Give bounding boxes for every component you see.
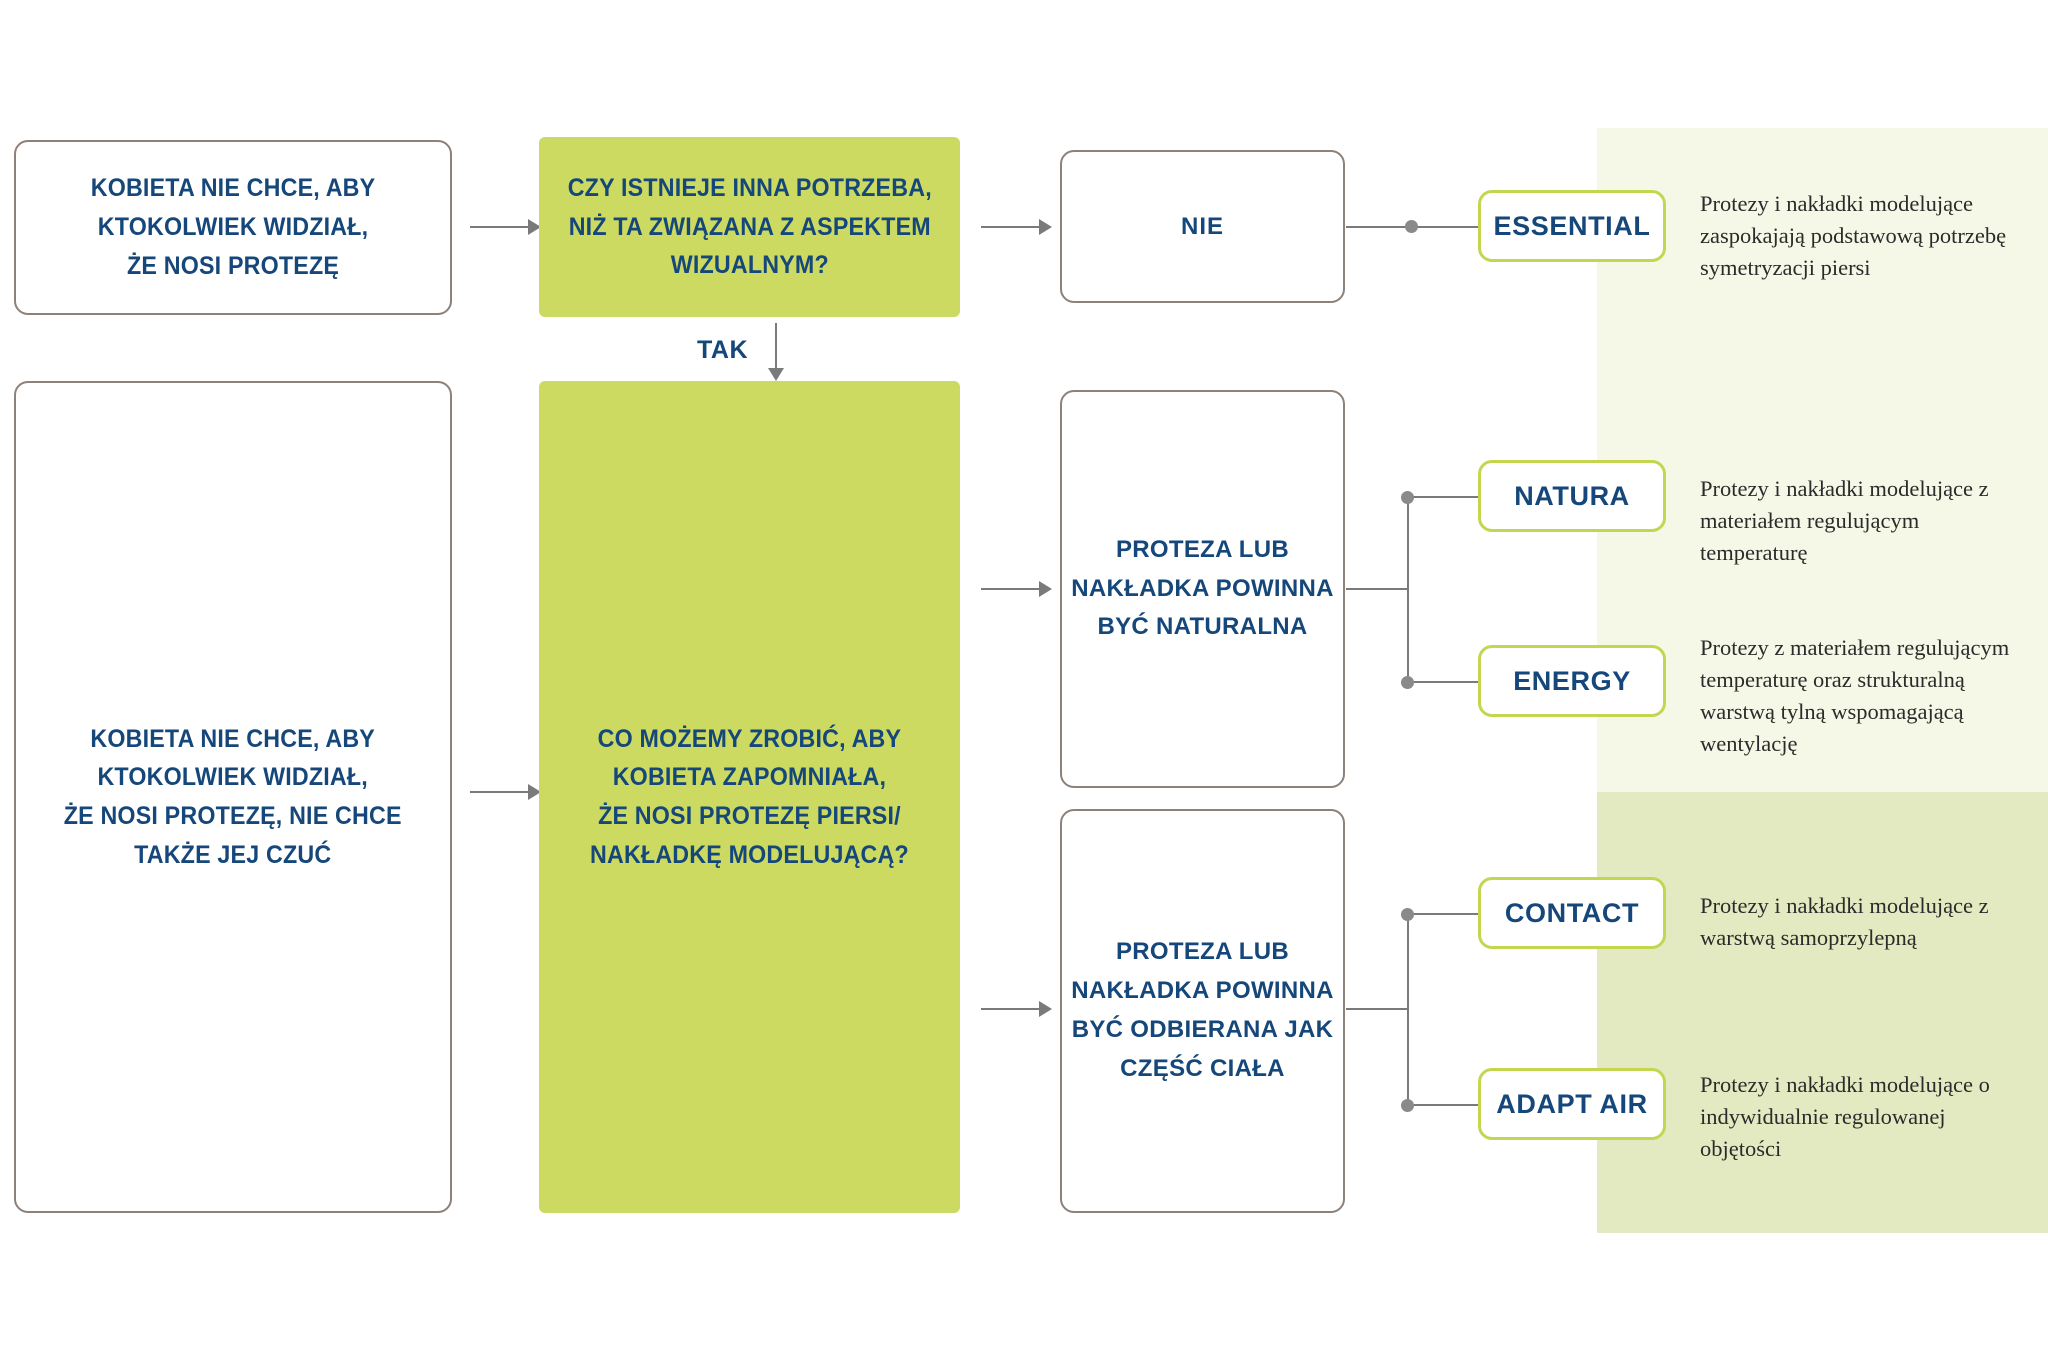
connector-to-natura [1407, 496, 1478, 498]
arrow-decision1-to-nie-head [1039, 219, 1052, 235]
connector-naturalna-spine [1407, 496, 1409, 682]
node-product-natura-label: NATURA [1514, 481, 1630, 512]
node-product-essential-label: ESSENTIAL [1494, 211, 1651, 242]
node-outcome-czesc-ciala[interactable]: PROTEZA LUB NAKŁADKA POWINNA BYĆ ODBIERA… [1060, 809, 1345, 1213]
product-panel-lower [1597, 792, 2048, 1233]
arrow-decision2-to-czesc-ciala-head [1039, 1001, 1052, 1017]
node-outcome-nie-label: NIE [1181, 213, 1224, 241]
node-product-adapt-air[interactable]: ADAPT AIR [1478, 1068, 1666, 1140]
node-outcome-naturalna-label: PROTEZA LUB NAKŁADKA POWINNA BYĆ NATURAL… [1071, 531, 1334, 648]
connector-dot-contact [1401, 908, 1414, 921]
description-energy: Protezy z materiałem regulującym tempera… [1700, 632, 2020, 760]
arrow-decision2-to-naturalna-head [1039, 581, 1052, 597]
connector-naturalna-stem [1346, 588, 1408, 590]
node-decision-2-label: CO MOŻEMY ZROBIĆ, ABY KOBIETA ZAPOMNIAŁA… [590, 720, 909, 875]
arrow-start2-to-decision2 [470, 791, 528, 793]
node-product-energy[interactable]: ENERGY [1478, 645, 1666, 717]
node-outcome-czesc-ciala-label: PROTEZA LUB NAKŁADKA POWINNA BYĆ ODBIERA… [1071, 933, 1334, 1089]
arrow-decision2-to-naturalna [981, 588, 1039, 590]
connector-czesc-ciala-stem [1346, 1008, 1408, 1010]
connector-dot-natura [1401, 491, 1414, 504]
node-product-contact-label: CONTACT [1505, 898, 1639, 929]
connector-to-contact [1407, 913, 1478, 915]
connector-dot-adapt-air [1401, 1099, 1414, 1112]
connector-dot-essential [1405, 220, 1418, 233]
node-outcome-naturalna[interactable]: PROTEZA LUB NAKŁADKA POWINNA BYĆ NATURAL… [1060, 390, 1345, 788]
node-start-2[interactable]: KOBIETA NIE CHCE, ABY KTOKOLWIEK WIDZIAŁ… [14, 381, 452, 1213]
branch-label-tak: TAK [697, 336, 748, 365]
connector-to-adapt-air [1407, 1104, 1478, 1106]
description-essential: Protezy i nakładki modelujące zaspokajaj… [1700, 188, 2020, 284]
node-product-adapt-air-label: ADAPT AIR [1496, 1089, 1647, 1120]
node-decision-1[interactable]: CZY ISTNIEJE INNA POTRZEBA, NIŻ TA ZWIĄZ… [539, 137, 960, 317]
node-start-1-label: KOBIETA NIE CHCE, ABY KTOKOLWIEK WIDZIAŁ… [91, 169, 376, 285]
node-start-1[interactable]: KOBIETA NIE CHCE, ABY KTOKOLWIEK WIDZIAŁ… [14, 140, 452, 315]
connector-czesc-ciala-spine [1407, 913, 1409, 1105]
node-start-2-label: KOBIETA NIE CHCE, ABY KTOKOLWIEK WIDZIAŁ… [64, 720, 402, 875]
node-product-energy-label: ENERGY [1513, 666, 1631, 697]
node-outcome-nie[interactable]: NIE [1060, 150, 1345, 303]
description-natura: Protezy i nakładki modelujące z materiał… [1700, 473, 2020, 569]
connector-dot-energy [1401, 676, 1414, 689]
arrow-decision1-to-nie [981, 226, 1039, 228]
arrow-decision1-to-decision2 [775, 323, 777, 370]
node-product-essential[interactable]: ESSENTIAL [1478, 190, 1666, 262]
arrow-decision2-to-czesc-ciala [981, 1008, 1039, 1010]
node-product-natura[interactable]: NATURA [1478, 460, 1666, 532]
description-contact: Protezy i nakładki modelujące z warstwą … [1700, 890, 2020, 954]
description-adapt-air: Protezy i nakładki modelujące o indywidu… [1700, 1069, 2020, 1165]
arrow-decision1-to-decision2-head [768, 368, 784, 381]
node-decision-1-label: CZY ISTNIEJE INNA POTRZEBA, NIŻ TA ZWIĄZ… [567, 169, 931, 285]
diagram-canvas: KOBIETA NIE CHCE, ABY KTOKOLWIEK WIDZIAŁ… [0, 0, 2048, 1365]
node-product-contact[interactable]: CONTACT [1478, 877, 1666, 949]
node-decision-2[interactable]: CO MOŻEMY ZROBIĆ, ABY KOBIETA ZAPOMNIAŁA… [539, 381, 960, 1213]
arrow-start1-to-decision1 [470, 226, 528, 228]
connector-to-energy [1407, 681, 1478, 683]
